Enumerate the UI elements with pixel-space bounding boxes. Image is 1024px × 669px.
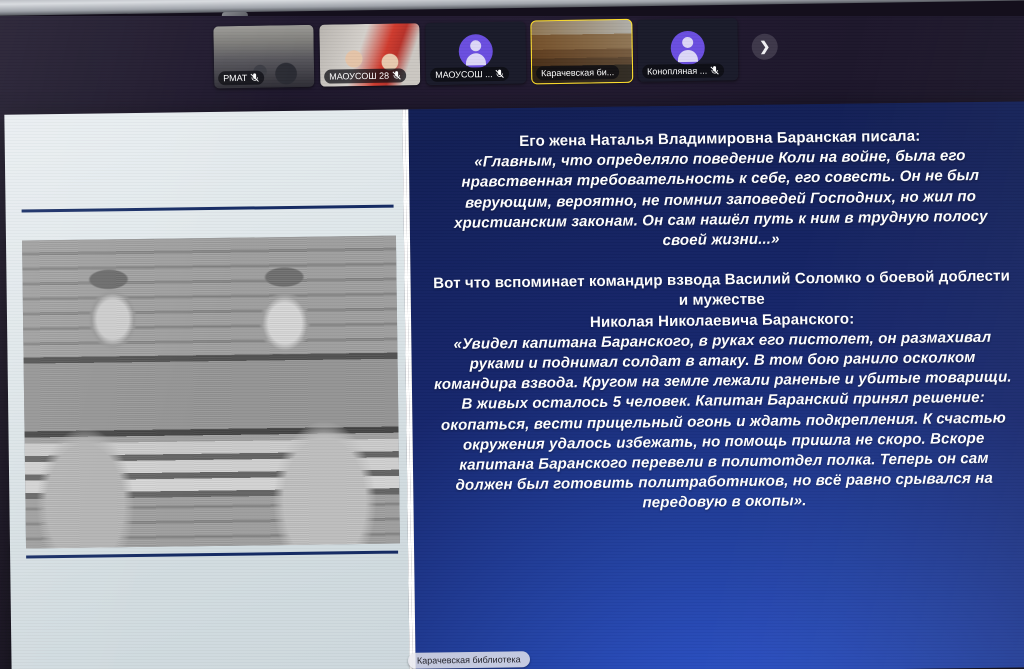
participant-name-badge: Конопляная ... bbox=[642, 63, 724, 78]
participant-name: РМАТ bbox=[223, 72, 247, 84]
presenter-name-badge: Карачевская библиотека bbox=[408, 651, 530, 669]
participant-tile-rmat[interactable]: РМАТ bbox=[213, 25, 314, 89]
mic-muted-icon bbox=[392, 70, 401, 80]
shared-presentation-slide: Его жена Наталья Владимировна Баранская … bbox=[4, 101, 1024, 669]
photographed-monitor-scene: РМАТ МАОУСОШ 28 bbox=[0, 0, 1024, 669]
participant-name-badge: РМАТ bbox=[218, 71, 264, 86]
participant-tile-karachevskaya-biblioteka[interactable]: Карачевская би... bbox=[531, 20, 632, 84]
slide-paragraph-quote-wife: «Главным, что определяло поведение Коли … bbox=[431, 146, 1010, 255]
slide-text-body: Его жена Наталья Владимировна Баранская … bbox=[431, 126, 1014, 517]
divider-bottom bbox=[26, 551, 398, 559]
avatar bbox=[459, 34, 494, 69]
participant-name-badge: МАОУСОШ 28 bbox=[324, 68, 406, 83]
participant-tile-maousosh[interactable]: МАОУСОШ ... bbox=[425, 22, 526, 86]
participant-name-badge: МАОУСОШ ... bbox=[430, 67, 510, 82]
divider-top bbox=[22, 205, 394, 213]
shared-desktop: РМАТ МАОУСОШ 28 bbox=[0, 16, 1024, 669]
participant-name: Конопляная ... bbox=[647, 65, 707, 78]
archive-photo-image bbox=[22, 236, 400, 549]
mic-muted-icon bbox=[710, 65, 719, 75]
chevron-right-icon[interactable]: ❯ bbox=[752, 34, 778, 60]
monitor-bezel bbox=[0, 0, 1024, 16]
participant-name-badge: Карачевская би... bbox=[536, 65, 619, 80]
avatar bbox=[670, 31, 705, 66]
slide-left-panel bbox=[4, 109, 412, 669]
participant-name: МАОУСОШ ... bbox=[435, 68, 493, 81]
participant-tile-maousosh-28[interactable]: МАОУСОШ 28 bbox=[319, 23, 420, 87]
archive-photo bbox=[22, 236, 400, 549]
presenter-name: Карачевская библиотека bbox=[417, 653, 521, 666]
participant-tile-konoplyanaya[interactable]: Конопляная ... bbox=[637, 18, 738, 82]
slide-paragraph-quote-solomko: «Увидел капитана Баранского, в руках его… bbox=[433, 327, 1013, 516]
participant-filmstrip[interactable]: РМАТ МАОУСОШ 28 bbox=[213, 18, 774, 113]
participant-name: Карачевская би... bbox=[541, 66, 614, 79]
slide-right-panel: Его жена Наталья Владимировна Баранская … bbox=[405, 101, 1024, 669]
participant-name: МАОУСОШ 28 bbox=[329, 70, 389, 83]
mic-muted-icon bbox=[495, 69, 504, 79]
mic-muted-icon bbox=[250, 73, 259, 83]
